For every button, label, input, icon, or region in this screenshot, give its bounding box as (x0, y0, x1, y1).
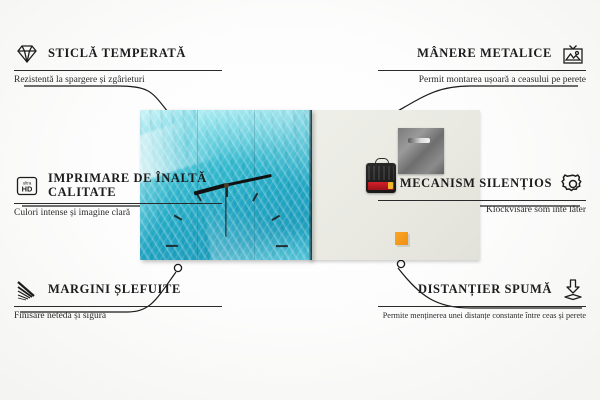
hanger-slot (408, 138, 430, 143)
leader-line-sticla (24, 86, 168, 112)
feature-subtitle: Permit montarea ușoară a ceasului pe per… (378, 75, 586, 87)
infographic-canvas: STICLĂ TEMPERATĂ Rezistentă la spargere … (0, 0, 600, 400)
leader-line-manere (396, 86, 578, 112)
feature-subtitle: Culori intense și imagine clară (14, 208, 222, 220)
clock-tick-9 (166, 245, 178, 247)
feature-title: MARGINI ȘLEFUITE (48, 283, 181, 297)
clock-center-hub (224, 183, 229, 188)
feature-imprimare-hd: ultra HD IMPRIMARE DE ÎNALTĂ CALITATE Cu… (14, 172, 222, 220)
feature-rule (14, 306, 222, 307)
movement-hanger-loop (375, 158, 389, 166)
feature-subtitle: Permite menținerea unei distanțe constan… (378, 311, 586, 321)
feature-subtitle: Klockvisare som inte låter (378, 205, 586, 217)
metal-hanger-plate (398, 128, 444, 174)
svg-text:HD: HD (22, 184, 33, 193)
clock-tick-3 (276, 245, 288, 247)
clock-tick-1 (252, 193, 258, 202)
feature-margini-slefuite: MARGINI ȘLEFUITE Finisare netedă și sigu… (14, 278, 222, 323)
leader-dot-margini (174, 264, 181, 271)
feature-title: DISTANȚIER SPUMĂ (418, 283, 552, 297)
gear-icon (560, 172, 586, 196)
clock-tick-2 (271, 215, 280, 221)
feature-rule (14, 203, 222, 204)
feature-title: IMPRIMARE DE ÎNALTĂ CALITATE (48, 172, 222, 199)
feature-rule (378, 200, 586, 201)
feature-distantier-spuma: DISTANȚIER SPUMĂ Permite menținerea unei… (378, 278, 586, 321)
ultra-hd-icon: ultra HD (14, 174, 40, 198)
polished-edges-icon (14, 278, 40, 302)
feature-title: STICLĂ TEMPERATĂ (48, 47, 186, 61)
feature-subtitle: Rezistentă la spargere și zgârieturi (14, 75, 222, 87)
feature-rule (14, 70, 222, 71)
clock-minute-hand (226, 174, 272, 186)
feature-rule (378, 70, 586, 71)
foam-spacer-arrow-icon (560, 278, 586, 302)
feature-mecanism-silentios: MECANISM SILENȚIOS Klockvisare som inte … (378, 172, 586, 217)
feature-rule (378, 306, 586, 307)
diamond-icon (14, 42, 40, 66)
picture-hanger-icon (560, 42, 586, 66)
feature-manere-metalice: MÂNERE METALICE Permit montarea ușoară a… (378, 42, 586, 87)
feature-subtitle: Finisare netedă și sigură (14, 311, 222, 323)
feature-title: MÂNERE METALICE (417, 47, 552, 61)
feature-title: MECANISM SILENȚIOS (400, 177, 552, 191)
feature-sticla-temperata: STICLĂ TEMPERATĂ Rezistentă la spargere … (14, 42, 222, 87)
foam-spacer (395, 232, 408, 245)
